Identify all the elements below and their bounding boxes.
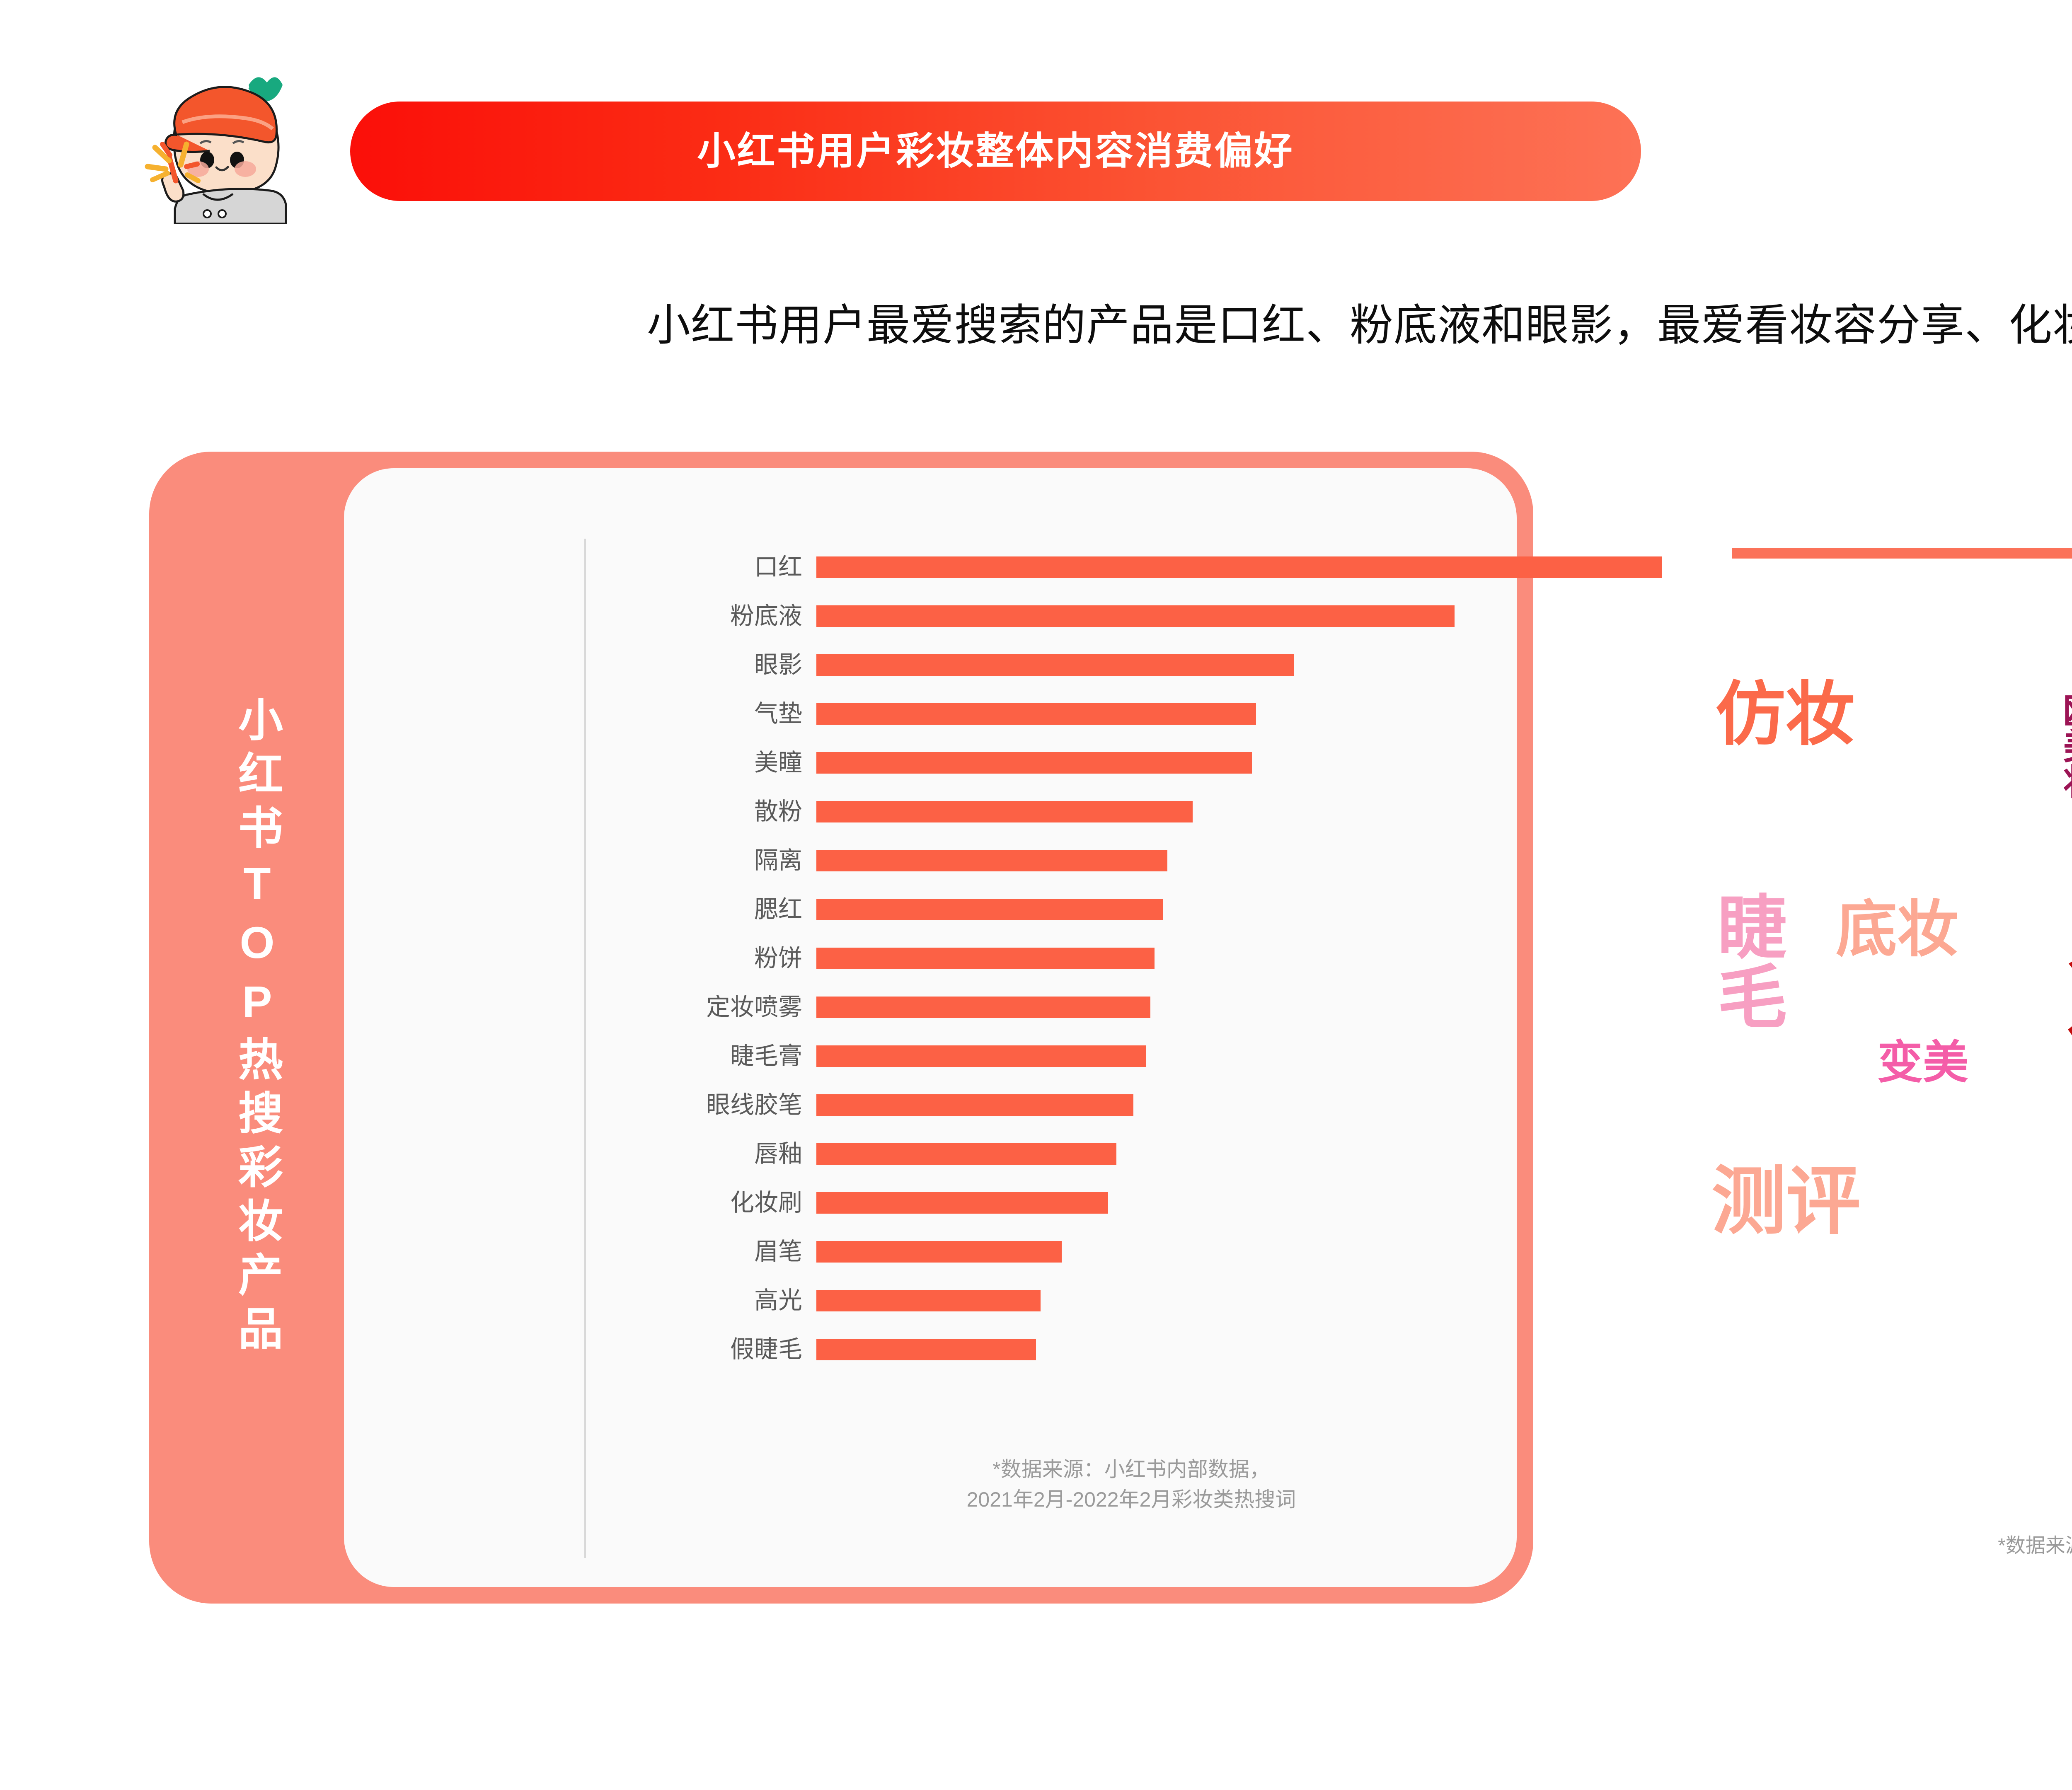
page-header: 小红书用户彩妆整体内容消费偏好 小红书蒲公英 [0, 0, 2072, 232]
bar-row: 眼影 [584, 641, 1662, 689]
bar-fill [816, 997, 1150, 1018]
bar-category-label: 散粉 [584, 800, 816, 824]
bar-row: 化妆刷 [584, 1178, 1662, 1227]
bar-fill [816, 801, 1193, 822]
bar-track [816, 1130, 1662, 1178]
bar-track [816, 787, 1662, 836]
bar-track [816, 543, 1662, 592]
bar-track [816, 738, 1662, 787]
bar-category-label: 隔离 [584, 849, 816, 873]
bar-track [816, 934, 1662, 983]
bar-fill [816, 1045, 1146, 1067]
keywords-source-note: *数据来源：小红书内部数据，2021年2月-2022年2月彩妆类笔记热门关键词 [1711, 1529, 2072, 1558]
bar-row: 口红 [584, 543, 1662, 592]
card-vertical-label: 小红书TOP热搜彩妆产品 [203, 452, 311, 1604]
word-cloud-term: 仿妆 [1716, 680, 1855, 749]
bar-track [816, 836, 1662, 885]
bar-category-label: 气垫 [584, 702, 816, 726]
word-cloud-term: 底妆 [1836, 899, 1958, 960]
bar-row: 假睫毛 [584, 1325, 1662, 1374]
chart-source-note: *数据来源：小红书内部数据， 2021年2月-2022年2月彩妆类热搜词 [821, 1454, 1442, 1514]
word-cloud-term: 测评 [1711, 1164, 1861, 1239]
bar-row: 隔离 [584, 836, 1662, 885]
bar-category-label: 假睫毛 [584, 1338, 816, 1362]
bar-category-label: 化妆刷 [584, 1191, 816, 1215]
horizontal-bar-chart: 口红粉底液眼影气垫美瞳散粉隔离腮红粉饼定妆喷雾睫毛膏眼线胶笔唇釉化妆刷眉笔高光假… [584, 543, 1662, 1554]
bar-category-label: 高光 [584, 1289, 816, 1313]
bar-fill [816, 1192, 1108, 1214]
bar-row: 睫毛膏 [584, 1032, 1662, 1081]
bar-category-label: 美瞳 [584, 751, 816, 775]
bar-fill [816, 850, 1167, 871]
bar-row: 定妆喷雾 [584, 983, 1662, 1032]
bar-row: 腮红 [584, 885, 1662, 934]
bar-fill [816, 1339, 1036, 1360]
word-cloud-term: 妆容 [2066, 941, 2072, 1077]
bar-row: 唇釉 [584, 1130, 1662, 1178]
bar-category-label: 眼影 [584, 653, 816, 677]
bar-track [816, 689, 1662, 738]
bar-fill [816, 1241, 1062, 1263]
bar-track [816, 1276, 1662, 1325]
page-subtitle: 小红书用户最爱搜索的产品是口红、粉底液和眼影，最爱看妆容分享、化妆教程、仿妆及测… [0, 290, 2072, 353]
bar-category-label: 腮红 [584, 897, 816, 922]
bar-fill [816, 948, 1155, 969]
bar-row: 粉底液 [584, 592, 1662, 641]
bar-row: 气垫 [584, 689, 1662, 738]
bar-fill [816, 654, 1294, 676]
bar-row: 眼线胶笔 [584, 1081, 1662, 1130]
word-cloud-term: 欧美妆 [2060, 692, 2072, 799]
bar-fill [816, 899, 1163, 920]
bar-category-label: 唇釉 [584, 1142, 816, 1166]
bar-category-label: 眼线胶笔 [584, 1093, 816, 1117]
rule-left-icon [1732, 548, 2072, 559]
bar-fill [816, 556, 1662, 578]
word-cloud-term: 睫毛 [1711, 891, 1781, 1030]
bar-fill [816, 1143, 1116, 1165]
bar-category-label: 定妆喷雾 [584, 995, 816, 1019]
bar-fill [816, 1094, 1133, 1116]
bar-track [816, 1178, 1662, 1227]
bar-row: 眉笔 [584, 1227, 1662, 1276]
bar-fill [816, 752, 1252, 774]
bar-fill [816, 1290, 1041, 1311]
bar-fill [816, 605, 1455, 627]
bar-track [816, 983, 1662, 1032]
bar-row: 美瞳 [584, 738, 1662, 787]
bar-track [816, 592, 1662, 641]
page-title-banner: 小红书用户彩妆整体内容消费偏好 [350, 102, 1641, 201]
bar-row: 高光 [584, 1276, 1662, 1325]
bar-row: 粉饼 [584, 934, 1662, 983]
bar-track [816, 1081, 1662, 1130]
bar-category-label: 粉饼 [584, 946, 816, 970]
bar-track [816, 1032, 1662, 1081]
bar-category-label: 口红 [584, 555, 816, 579]
keywords-word-cloud: 仿妆欧美妆化妆品化妆新手化妆师睫毛底妆变美妆容测评唇妆试色教程种草 [1711, 651, 2072, 1496]
bar-track [816, 641, 1662, 689]
bar-category-label: 眉笔 [584, 1240, 816, 1264]
bar-track [816, 885, 1662, 934]
bar-row: 散粉 [584, 787, 1662, 836]
bar-track [816, 1325, 1662, 1374]
bar-category-label: 粉底液 [584, 604, 816, 628]
keywords-title-bar: 彩妆类笔记热门关键词 [1732, 503, 2072, 603]
chart-surface: 口红粉底液眼影气垫美瞳散粉隔离腮红粉饼定妆喷雾睫毛膏眼线胶笔唇釉化妆刷眉笔高光假… [344, 468, 1517, 1587]
bar-fill [816, 703, 1256, 725]
vertical-label-text: 小红书TOP热搜彩妆产品 [235, 697, 279, 1359]
bar-category-label: 睫毛膏 [584, 1044, 816, 1068]
page-title: 小红书用户彩妆整体内容消费偏好 [697, 132, 1294, 170]
mascot-character-icon [124, 62, 294, 224]
bar-track [816, 1227, 1662, 1276]
word-cloud-term: 变美 [1877, 1040, 1968, 1086]
top-search-products-card: 小红书TOP热搜彩妆产品 口红粉底液眼影气垫美瞳散粉隔离腮红粉饼定妆喷雾睫毛膏眼… [149, 452, 1533, 1604]
